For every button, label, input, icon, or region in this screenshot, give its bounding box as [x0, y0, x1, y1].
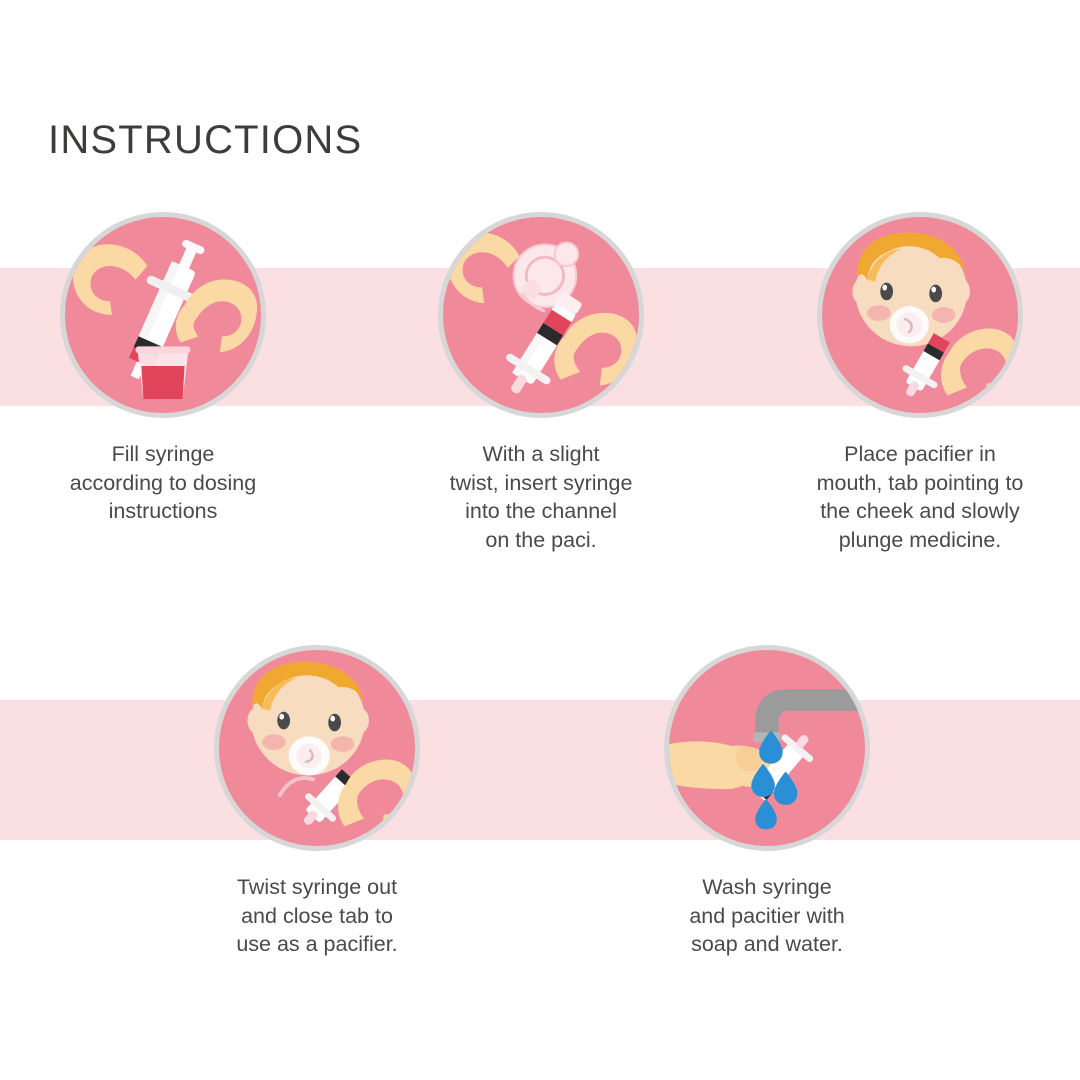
baby-twist-out-icon [219, 650, 415, 846]
decorative-band-bottom [0, 700, 1080, 840]
step-1-figure [60, 212, 266, 418]
syringe-filling-icon [65, 217, 261, 413]
pacifier-twist-icon [443, 217, 639, 413]
step-2-caption: With a slight twist, insert syringe into… [391, 440, 691, 554]
step-4: Twist syringe out and close tab to use a… [167, 645, 467, 959]
baby-plunge-icon [822, 217, 1018, 413]
instructions-infographic: INSTRUCTIONS [0, 0, 1080, 1080]
wash-faucet-icon [669, 650, 865, 846]
step-5-caption: Wash syringe and pacitier with soap and … [617, 873, 917, 959]
step-5-figure [664, 645, 870, 851]
step-3: Place pacifier in mouth, tab pointing to… [770, 212, 1070, 554]
step-1-caption: Fill syringe according to dosing instruc… [13, 440, 313, 526]
step-2: With a slight twist, insert syringe into… [391, 212, 691, 554]
step-4-figure [214, 645, 420, 851]
step-3-caption: Place pacifier in mouth, tab pointing to… [770, 440, 1070, 554]
step-5: Wash syringe and pacitier with soap and … [617, 645, 917, 959]
page-title: INSTRUCTIONS [48, 118, 362, 163]
step-2-figure [438, 212, 644, 418]
step-4-caption: Twist syringe out and close tab to use a… [167, 873, 467, 959]
step-1: Fill syringe according to dosing instruc… [13, 212, 313, 526]
step-3-figure [817, 212, 1023, 418]
